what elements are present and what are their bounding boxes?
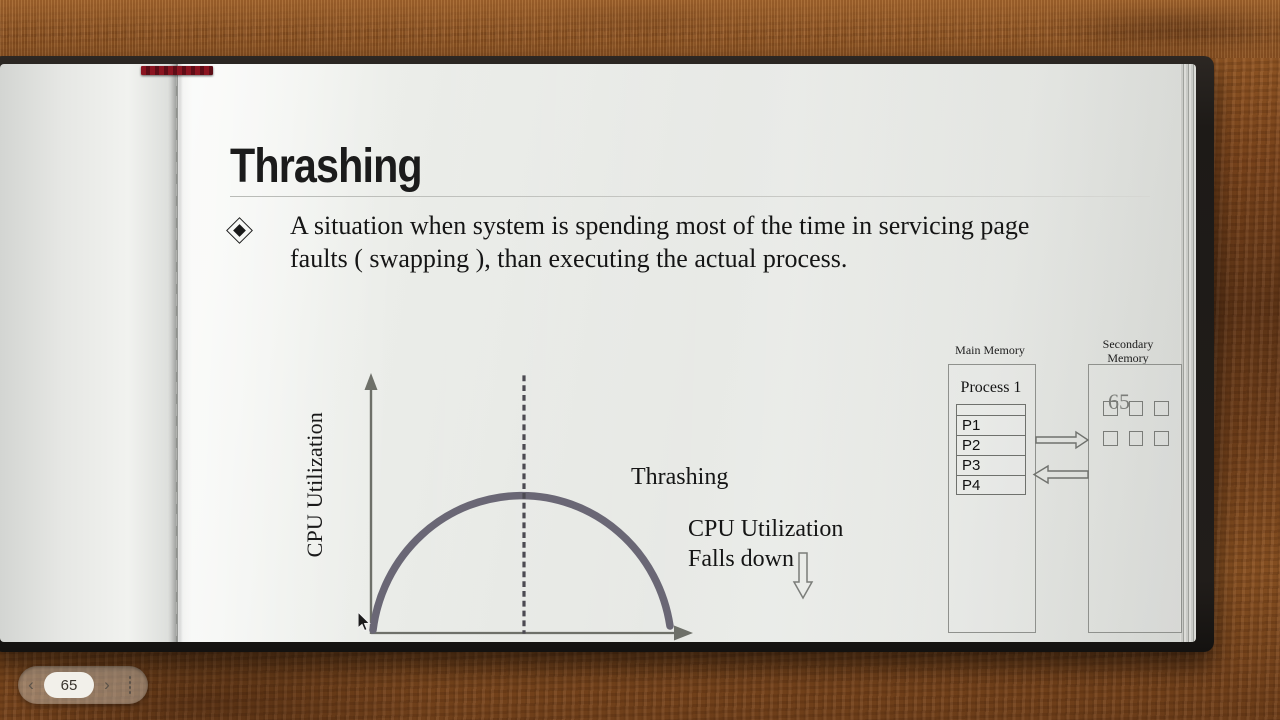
cpu-utilization-chart: CPU Utilization Degree of programming — [318, 364, 898, 642]
more-vertical-icon[interactable] — [120, 676, 140, 694]
swap-arrows — [908, 329, 1196, 642]
swap-out-arrow — [1036, 432, 1088, 448]
page-number-display[interactable]: 65 — [44, 672, 94, 698]
slide-page-number: 65 — [1108, 389, 1130, 415]
chart-canvas — [318, 364, 898, 642]
book-pages-area: Thrashing A situation when system is spe… — [0, 64, 1196, 642]
title-divider — [230, 196, 1150, 197]
wood-top-plank — [0, 0, 1280, 58]
mouse-cursor — [358, 612, 372, 632]
previous-page-button[interactable]: ‹ — [18, 675, 44, 695]
book-viewer[interactable]: Thrashing A situation when system is spe… — [0, 56, 1214, 652]
cpu-utilization-curve — [373, 496, 670, 630]
bullet-text: A situation when system is spending most… — [290, 209, 1080, 276]
chart-y-axis-arrowhead — [365, 373, 378, 390]
diamond-bullet-icon — [228, 219, 250, 241]
slide-content: Thrashing A situation when system is spe… — [178, 64, 1180, 642]
page-title: Thrashing — [230, 139, 422, 194]
screen: Thrashing A situation when system is spe… — [0, 0, 1280, 720]
next-page-button[interactable]: › — [94, 675, 120, 695]
falls-down-line1: CPU Utilization — [688, 514, 843, 544]
falls-down-annotation: CPU Utilization Falls down — [688, 514, 843, 574]
book-spine-stitching — [176, 64, 177, 642]
page-navigation-bar[interactable]: ‹ 65 › — [18, 666, 148, 704]
chart-x-axis-arrowhead — [674, 626, 693, 641]
thrashing-annotation: Thrashing — [631, 464, 728, 491]
memory-swap-diagram: Main Memory Secondary Memory Process 1 P… — [908, 329, 1196, 642]
left-page[interactable] — [0, 64, 178, 642]
swap-in-arrow — [1034, 466, 1088, 483]
bookmark-ribbon-top[interactable] — [141, 66, 213, 75]
falls-down-line2: Falls down — [688, 544, 843, 574]
